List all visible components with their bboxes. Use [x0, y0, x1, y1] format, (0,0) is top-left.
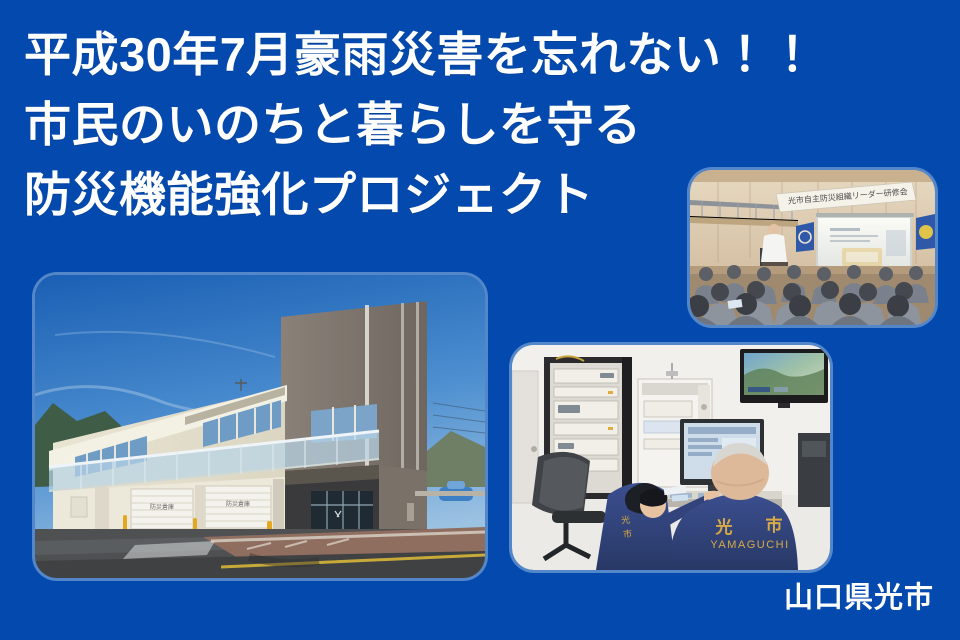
- svg-text:防災倉庫: 防災倉庫: [150, 503, 174, 511]
- title-line-2: 市民のいのちと暮らしを守る: [24, 90, 936, 160]
- svg-text:防災倉庫: 防災倉庫: [226, 500, 250, 508]
- svg-text:市: 市: [623, 528, 633, 540]
- photo-control: 光 市 YAMAGUCHI 光 市: [512, 345, 830, 570]
- svg-text:光: 光: [621, 514, 631, 526]
- svg-text:光: 光: [715, 517, 733, 537]
- svg-text:YAMAGUCHI: YAMAGUCHI: [710, 539, 789, 551]
- credit-label: 山口県光市: [784, 583, 934, 613]
- photo-seminar: 光市自主防災組織リーダー研修会: [690, 170, 935, 325]
- title-line-1: 平成30年7月豪雨災害を忘れない！！: [24, 20, 936, 90]
- photo-control-image: 光 市 YAMAGUCHI 光 市: [512, 345, 830, 570]
- photo-building-image: 防災倉庫 防災倉庫: [35, 275, 485, 578]
- svg-text:市: 市: [766, 515, 783, 535]
- photo-seminar-image: 光市自主防災組織リーダー研修会: [690, 170, 935, 325]
- poster-canvas: 平成30年7月豪雨災害を忘れない！！ 市民のいのちと暮らしを守る 防災機能強化プ…: [0, 0, 960, 640]
- photo-building: 防災倉庫 防災倉庫: [35, 275, 485, 578]
